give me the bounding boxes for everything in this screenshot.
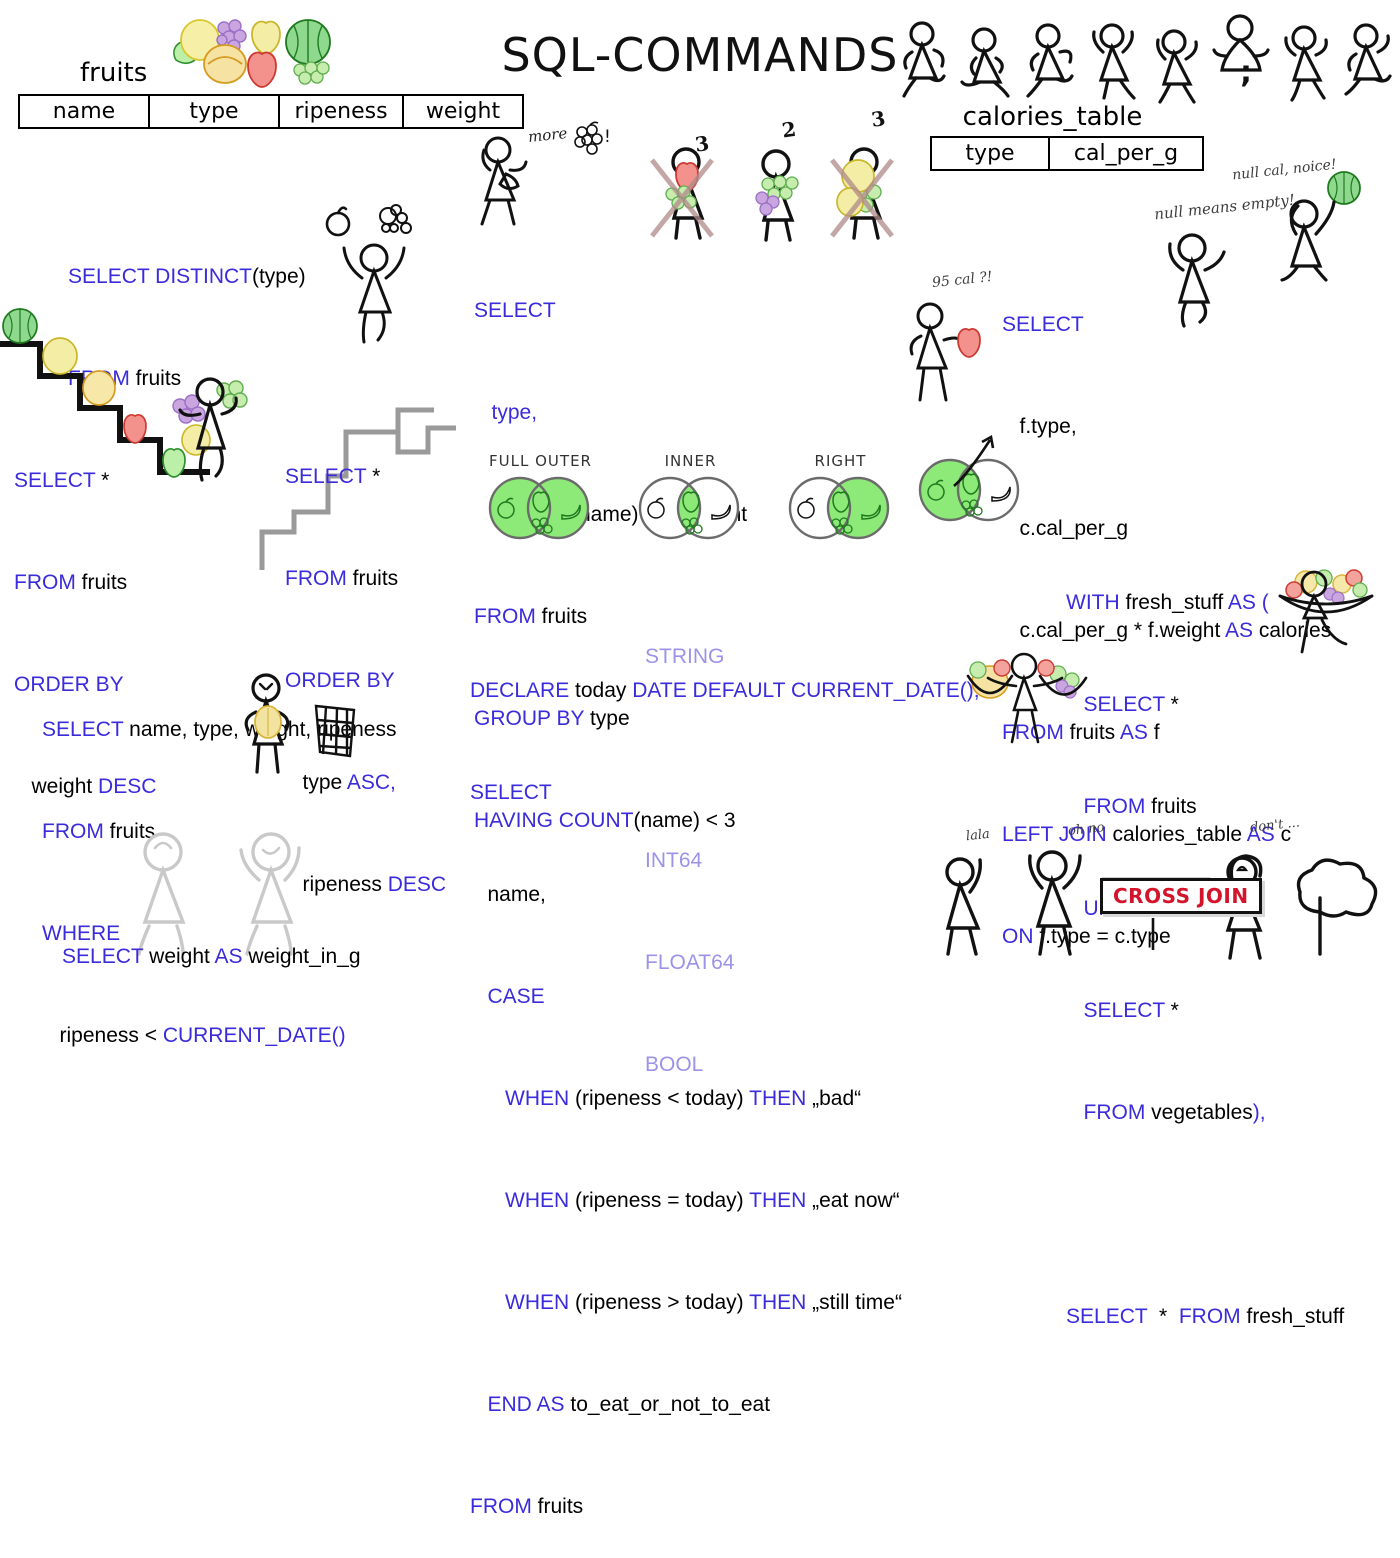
declare-case-query: DECLARE today DATE DEFAULT CURRENT_DATE(… [470,606,980,1558]
query-line: SELECT * [285,460,446,494]
calories-col-0: type [931,137,1049,170]
venn-right-icon [778,470,903,542]
query-line: CASE [470,980,980,1014]
svg-text:!: ! [604,127,611,147]
join-diagram-inner: INNER [628,452,753,547]
calories-table-name: calories_table [930,102,1175,132]
join-label: RIGHT [778,452,903,470]
basket-icon [310,700,360,762]
calories-table: calories_table type cal_per_g [930,102,1204,171]
cross-join-sign: CROSS JOIN [1100,878,1262,914]
cal-question-annotation: 95 cal ?! [931,269,993,291]
query-line: FROM fruits [14,566,156,600]
query-line: type, [474,396,747,430]
grapes-exclaim-icon: ! [570,122,614,158]
query-line: WHEN (ripeness < today) THEN „bad“ [470,1082,980,1116]
query-line: END AS to_eat_or_not_to_eat [470,1388,980,1422]
query-line: name, [470,878,980,912]
fruits-col-1: type [149,95,279,128]
apple-holder-figure-icon [900,296,990,406]
query-line: FROM fruits [285,562,446,596]
join-label: INNER [628,452,753,470]
query-line: SELECT [470,776,980,810]
fruit-bowl-figure-icon [1268,556,1388,666]
query-line: f.type, [1002,410,1331,444]
join-diagram-right: RIGHT [778,452,903,547]
query-line: SELECT [1002,308,1331,342]
query-line: ripeness < CURRENT_DATE() [42,1019,396,1053]
counting-figures-group: 3 2 3 [650,140,900,240]
semicolon-glyph: ; [1240,55,1252,90]
fruits-col-3: weight [403,95,523,128]
query-line: SELECT * [14,464,156,498]
fruits-schema-row: name type ripeness weight [18,94,524,129]
venn-full-outer-icon [478,470,603,542]
curved-arrow-icon [950,430,1010,490]
join-diagram-full-outer: FULL OUTER [478,452,603,547]
query-line [1066,1198,1344,1232]
count-label: 2 [780,117,797,143]
more-grapes-annotation: more [527,124,568,146]
query-line: SELECT * FROM fresh_stuff [1066,1300,1344,1334]
query-line: WHEN (ripeness > today) THEN „still time… [470,1286,980,1320]
query-line: SELECT weight AS weight_in_g [62,940,361,974]
join-label: FULL OUTER [478,452,603,470]
fruits-table: fruits name type ripeness weight [18,56,524,129]
venn-inner-icon [628,470,753,542]
fruits-table-name: fruits [80,58,147,88]
dancing-figures-row: ; [900,18,1390,103]
figure-with-melon-icon [232,668,322,778]
select-alias-query: SELECT weight AS weight_in_g [62,872,361,1008]
cross-join-label: CROSS JOIN [1113,884,1249,908]
veg-basket-figure-icon [962,640,1092,750]
query-line: WHEN (ripeness = today) THEN „eat now“ [470,1184,980,1218]
query-line: FROM fruits [470,1490,980,1524]
query-line: DECLARE today DATE DEFAULT CURRENT_DATE(… [470,674,980,708]
query-line: SELECT * [1066,994,1344,1028]
calories-col-1: cal_per_g [1049,137,1203,170]
fruits-col-0: name [19,95,149,128]
query-line: SELECT [474,294,747,328]
fruit-cluster-icon [148,14,348,96]
fruits-col-2: ripeness [279,95,403,128]
query-line: FROM fruits [1066,790,1344,824]
calories-schema-row: type cal_per_g [930,136,1204,171]
count-label: 3 [870,106,887,132]
juggling-figure-icon [316,196,446,346]
count-label: 3 [693,131,710,157]
query-line: SELECT DISTINCT(type) [68,260,306,294]
query-line: SELECT * [1066,688,1344,722]
query-line: FROM vegetables), [1066,1096,1344,1130]
